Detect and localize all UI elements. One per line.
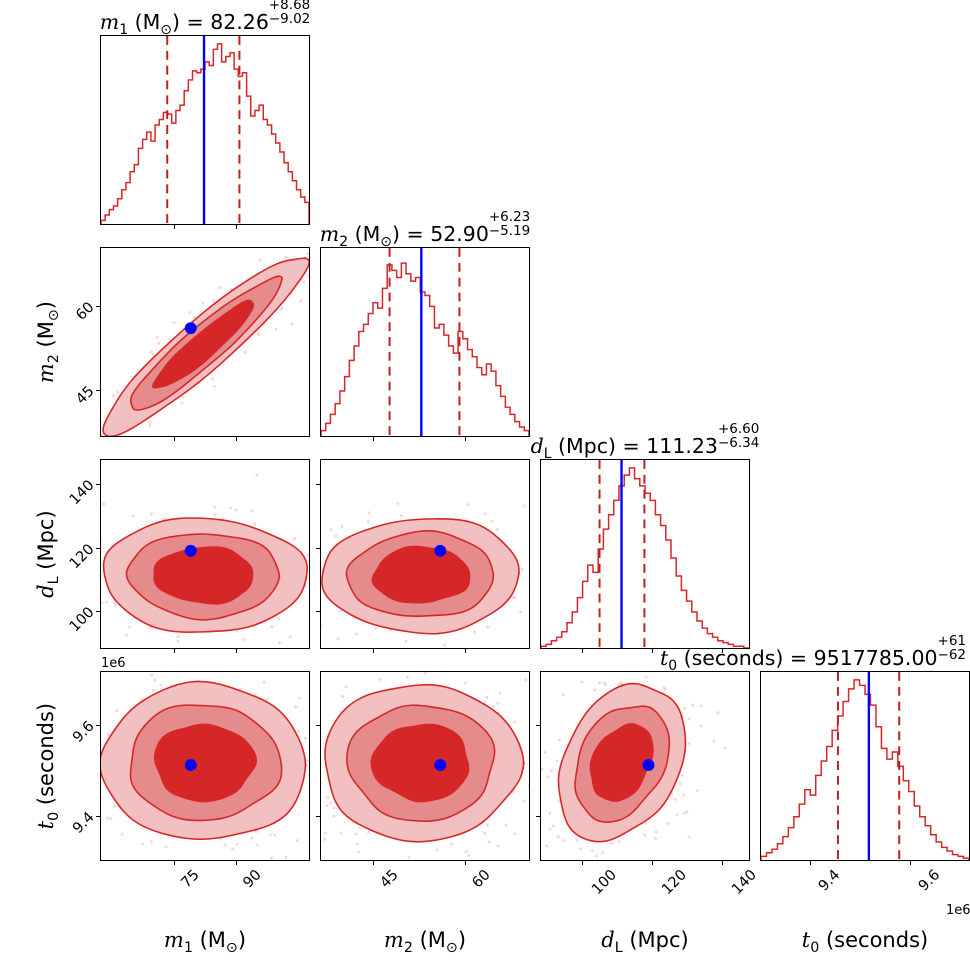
ytick-m2-0 bbox=[96, 390, 100, 391]
xtick-dL-0 bbox=[582, 861, 583, 865]
xtick-diag-m2-1 bbox=[465, 437, 466, 441]
joint-panel-dL-t0 bbox=[540, 671, 750, 861]
truth-marker bbox=[434, 759, 446, 771]
xtick-m2-1 bbox=[465, 861, 466, 865]
xtick-inner-m1-2-1 bbox=[236, 649, 237, 653]
corner-plot-figure: m1 (M⊙) = 82.26+8.68−9.02m2 (M⊙) = 52.90… bbox=[0, 0, 970, 970]
xtick-label-dL-0: 100 bbox=[589, 867, 620, 898]
joint-panel-m1-t0 bbox=[100, 671, 310, 861]
joint-panel-m2-t0 bbox=[320, 671, 530, 861]
ytick-inner-t0-2-1 bbox=[536, 725, 540, 726]
ytick-t0-0 bbox=[96, 816, 100, 817]
title-minus: −6.34 bbox=[718, 437, 759, 451]
panel-title-dL: dL (Mpc) = 111.23+6.60−6.34 bbox=[531, 429, 760, 462]
title-value: 111.23 bbox=[646, 434, 718, 458]
xtick-m1-1 bbox=[236, 861, 237, 865]
ytick-m2-1 bbox=[96, 306, 100, 307]
xtick-label-m2-1: 60 bbox=[470, 867, 494, 891]
title-equals: = bbox=[180, 10, 210, 34]
ytick-inner-t0-2-0 bbox=[536, 816, 540, 817]
xtick-m2-0 bbox=[373, 861, 374, 865]
yaxis-label-m2: m2 (M⊙) bbox=[34, 262, 62, 422]
xtick-dL-2 bbox=[722, 861, 723, 865]
xtick-label-m2-0: 45 bbox=[377, 867, 401, 891]
xtick-diag-m2-0 bbox=[373, 437, 374, 441]
histogram-panel-m2 bbox=[320, 247, 530, 437]
histogram-outline bbox=[321, 263, 529, 436]
title-value: 82.26 bbox=[210, 10, 269, 34]
ytick-inner-t0-1-0 bbox=[316, 816, 320, 817]
ytick-dL-0 bbox=[96, 611, 100, 612]
xtick-diag-dL-0 bbox=[582, 649, 583, 653]
joint-panel-m1-dL bbox=[100, 459, 310, 649]
xtick-m1-0 bbox=[174, 861, 175, 865]
ytick-t0-1 bbox=[96, 725, 100, 726]
yaxis-label-t0: t0 (seconds) bbox=[34, 686, 62, 846]
joint-panel-m2-dL bbox=[320, 459, 530, 649]
xtick-label-t0-1: 9.6 bbox=[916, 867, 944, 895]
title-value: 52.90 bbox=[430, 222, 489, 246]
x-exponent-t0: 1e6 bbox=[946, 903, 970, 918]
histogram-panel-t0 bbox=[760, 671, 970, 861]
xaxis-label-t0: t0 (seconds) bbox=[802, 928, 928, 956]
ytick-inner-dL-1-0 bbox=[316, 611, 320, 612]
histogram-panel-m1 bbox=[100, 35, 310, 225]
histogram-panel-dL bbox=[540, 459, 750, 649]
xtick-inner-m1-1-1 bbox=[236, 437, 237, 441]
xtick-dL-1 bbox=[652, 861, 653, 865]
xaxis-label-m2: m2 (M⊙) bbox=[384, 928, 466, 956]
title-equals: = bbox=[783, 646, 813, 670]
xtick-t0-0 bbox=[810, 861, 811, 865]
xaxis-label-dL: dL (Mpc) bbox=[601, 928, 688, 956]
yaxis-label-dL: dL (Mpc) bbox=[34, 474, 62, 634]
title-variable: m2 (M⊙) bbox=[320, 222, 400, 246]
xtick-inner-m1-2-0 bbox=[174, 649, 175, 653]
truth-marker bbox=[185, 759, 197, 771]
xtick-diag-dL-1 bbox=[652, 649, 653, 653]
truth-marker bbox=[185, 322, 197, 334]
xtick-diag-m1-0 bbox=[174, 225, 175, 229]
joint-panel-m1-m2 bbox=[100, 247, 310, 437]
xtick-label-dL-1: 120 bbox=[659, 867, 690, 898]
xtick-t0-1 bbox=[910, 861, 911, 865]
title-equals: = bbox=[400, 222, 430, 246]
xtick-diag-dL-2 bbox=[722, 649, 723, 653]
truth-marker bbox=[643, 759, 655, 771]
truth-marker bbox=[185, 545, 197, 557]
xtick-label-t0-0: 9.4 bbox=[816, 867, 844, 895]
xtick-inner-m2-2-1 bbox=[465, 649, 466, 653]
ytick-dL-1 bbox=[96, 548, 100, 549]
xtick-inner-m2-2-0 bbox=[373, 649, 374, 653]
ytick-dL-2 bbox=[96, 484, 100, 485]
title-minus: −62 bbox=[938, 649, 967, 663]
xaxis-label-m1: m1 (M⊙) bbox=[164, 928, 246, 956]
xtick-label-m1-1: 90 bbox=[240, 867, 264, 891]
xtick-label-dL-2: 140 bbox=[729, 867, 760, 898]
title-minus: −9.02 bbox=[269, 13, 310, 27]
ytick-inner-dL-1-1 bbox=[316, 548, 320, 549]
title-variable: m1 (M⊙) bbox=[100, 10, 180, 34]
title-value: 9517785.00 bbox=[814, 646, 938, 670]
xtick-diag-m1-1 bbox=[236, 225, 237, 229]
ytick-inner-dL-1-2 bbox=[316, 484, 320, 485]
title-minus: −5.19 bbox=[489, 225, 530, 239]
histogram-outline bbox=[761, 680, 969, 860]
ytick-inner-t0-1-1 bbox=[316, 725, 320, 726]
title-variable: dL (Mpc) bbox=[531, 434, 616, 458]
xtick-inner-m1-1-0 bbox=[174, 437, 175, 441]
y-exponent-t0: 1e6 bbox=[101, 656, 126, 671]
truth-marker bbox=[434, 545, 446, 557]
panel-title-m2: m2 (M⊙) = 52.90+6.23−5.19 bbox=[320, 217, 531, 250]
title-equals: = bbox=[616, 434, 646, 458]
xtick-label-m1-0: 75 bbox=[179, 867, 203, 891]
panel-title-m1: m1 (M⊙) = 82.26+8.68−9.02 bbox=[100, 5, 311, 38]
